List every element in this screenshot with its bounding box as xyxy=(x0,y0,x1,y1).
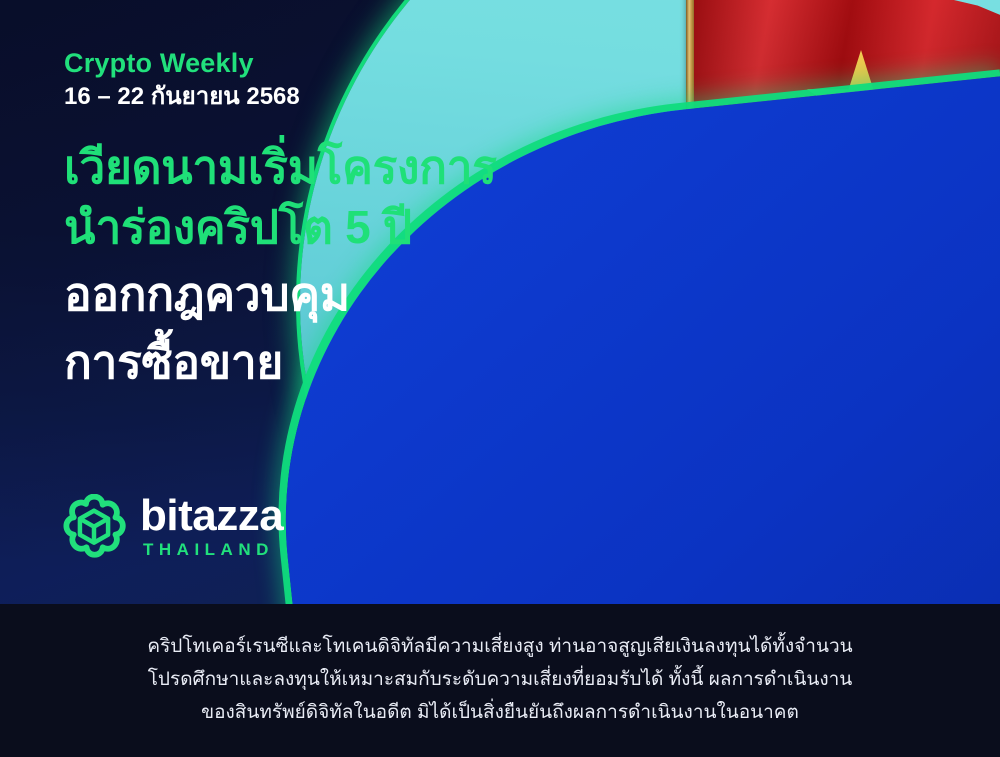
headline-white-line-1: ออกกฎควบคุม xyxy=(64,265,584,325)
bitazza-wordmark: bitazza xyxy=(140,494,283,538)
headline-white-line-2: การซื้อขาย xyxy=(64,333,584,393)
banner-background: Crypto Weekly 16 – 22 กันยายน 2568 เวียด… xyxy=(0,0,1000,604)
disclaimer-line-1: คริปโทเคอร์เรนซีและโทเคนดิจิทัลมีความเสี… xyxy=(147,634,852,661)
bitazza-logo[interactable]: bitazza THAILAND xyxy=(62,494,283,558)
kicker-label: Crypto Weekly xyxy=(64,48,584,79)
disclaimer-line-2: โปรดศึกษาและลงทุนให้เหมาะสมกับระดับความเ… xyxy=(148,667,853,694)
risk-disclaimer: คริปโทเคอร์เรนซีและโทเคนดิจิทัลมีความเสี… xyxy=(0,604,1000,757)
headline-green-line-2: นำร่องคริปโต 5 ปี xyxy=(64,198,584,258)
disclaimer-line-3: ของสินทรัพย์ดิจิทัลในอดีต มิได้เป็นสิ่งย… xyxy=(201,700,799,727)
headline-block: Crypto Weekly 16 – 22 กันยายน 2568 เวียด… xyxy=(64,48,584,393)
bitazza-wordmark-group: bitazza THAILAND xyxy=(140,494,283,558)
headline-green-line-1: เวียดนามเริ่มโครงการ xyxy=(64,138,584,198)
bitazza-country-label: THAILAND xyxy=(143,541,283,558)
promo-banner-card: Crypto Weekly 16 – 22 กันยายน 2568 เวียด… xyxy=(0,0,1000,757)
headline-group: เวียดนามเริ่มโครงการ นำร่องคริปโต 5 ปี อ… xyxy=(64,138,584,393)
bitazza-flower-cube-icon xyxy=(62,494,126,558)
date-range-label: 16 – 22 กันยายน 2568 xyxy=(64,83,584,112)
